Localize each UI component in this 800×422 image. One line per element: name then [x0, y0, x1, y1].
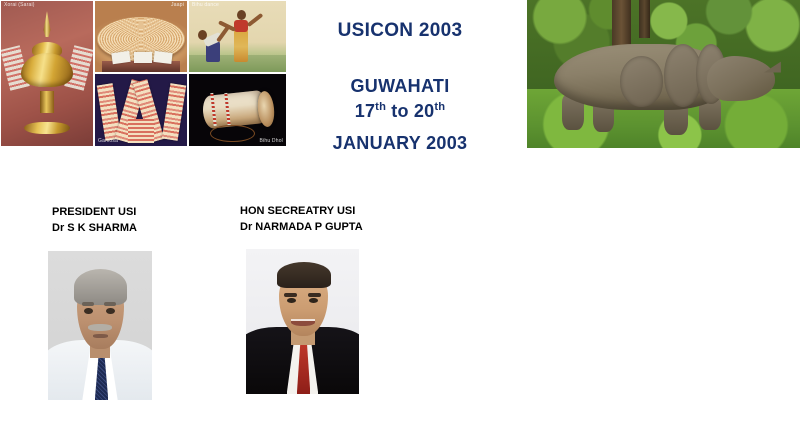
- date-start: 17: [355, 101, 375, 121]
- eye: [106, 308, 114, 314]
- assam-culture-collage: Jaapi Bihu dance Xorai (Sarai): [0, 0, 287, 147]
- eyebrow: [82, 302, 93, 306]
- jaapi-cloth: [134, 52, 152, 63]
- collage-caption-bihu-dhol: Bihu Dhol: [260, 138, 283, 144]
- president-portrait-photo: [48, 251, 152, 400]
- grey-hair: [74, 269, 127, 305]
- secretary-role: HON SECREATRY USI: [240, 203, 363, 219]
- secretary-name: Dr NARMADA P GUPTA: [240, 219, 363, 235]
- dancer-blouse: [234, 20, 248, 32]
- xorai-bowl: [21, 53, 73, 87]
- one-horned-rhinoceros-photo: [527, 0, 800, 148]
- date-joiner: to: [386, 101, 414, 121]
- collage-tile-xorai: Xorai (Sarai): [0, 0, 94, 147]
- collage-tile-bihu-dance: Bihu dance: [188, 0, 287, 73]
- eyebrow: [284, 293, 296, 297]
- xorai-stem: [40, 91, 54, 113]
- date-end: 20: [414, 101, 434, 121]
- eye: [84, 308, 92, 314]
- president-label-block: PRESIDENT USI Dr S K SHARMA: [52, 204, 137, 236]
- collage-caption-gamosa: Gamosa: [98, 138, 118, 144]
- xorai-spire: [44, 11, 51, 37]
- collage-caption-jaapi: Jaapi: [171, 2, 184, 8]
- dancer-arm: [246, 13, 263, 27]
- eyebrow: [104, 302, 115, 306]
- conference-title-block: USICON 2003 GUWAHATI 17th to 20th JANUAR…: [290, 0, 510, 170]
- rhino-skin-fold: [620, 56, 664, 106]
- conference-city: GUWAHATI: [290, 76, 510, 97]
- president-role: PRESIDENT USI: [52, 204, 137, 220]
- collage-caption-xorai: Xorai (Sarai): [4, 2, 35, 8]
- smiling-mouth: [291, 319, 315, 326]
- eyebrow: [308, 293, 320, 297]
- dancer-head: [237, 10, 246, 20]
- president-name: Dr S K SHARMA: [52, 220, 137, 236]
- conference-name: USICON 2003: [290, 20, 510, 42]
- dhol-strap: [210, 125, 255, 143]
- secretary-label-block: HON SECREATRY USI Dr NARMADA P GUPTA: [240, 203, 363, 235]
- gamosa-strip: [162, 83, 186, 141]
- date-end-suffix: th: [434, 101, 445, 113]
- conference-month-year: JANUARY 2003: [290, 133, 510, 154]
- secretary-portrait-photo: [246, 249, 359, 394]
- collage-tile-gamosa: Gamosa: [94, 73, 188, 147]
- gamosa-center-motif: [128, 119, 154, 143]
- date-start-suffix: th: [375, 101, 386, 113]
- conference-dates: 17th to 20th: [290, 101, 510, 122]
- xorai-base: [24, 122, 70, 134]
- hair: [277, 262, 331, 288]
- mouth: [93, 334, 109, 338]
- jaapi-cloth: [153, 51, 173, 65]
- collage-tile-bihu-dhol: Bihu Dhol: [188, 73, 287, 147]
- collage-tile-jaapi: Jaapi: [94, 0, 188, 73]
- collage-caption-bihu-dance: Bihu dance: [192, 2, 219, 8]
- tree-trunk: [639, 0, 650, 38]
- dancer-skirt: [234, 28, 248, 62]
